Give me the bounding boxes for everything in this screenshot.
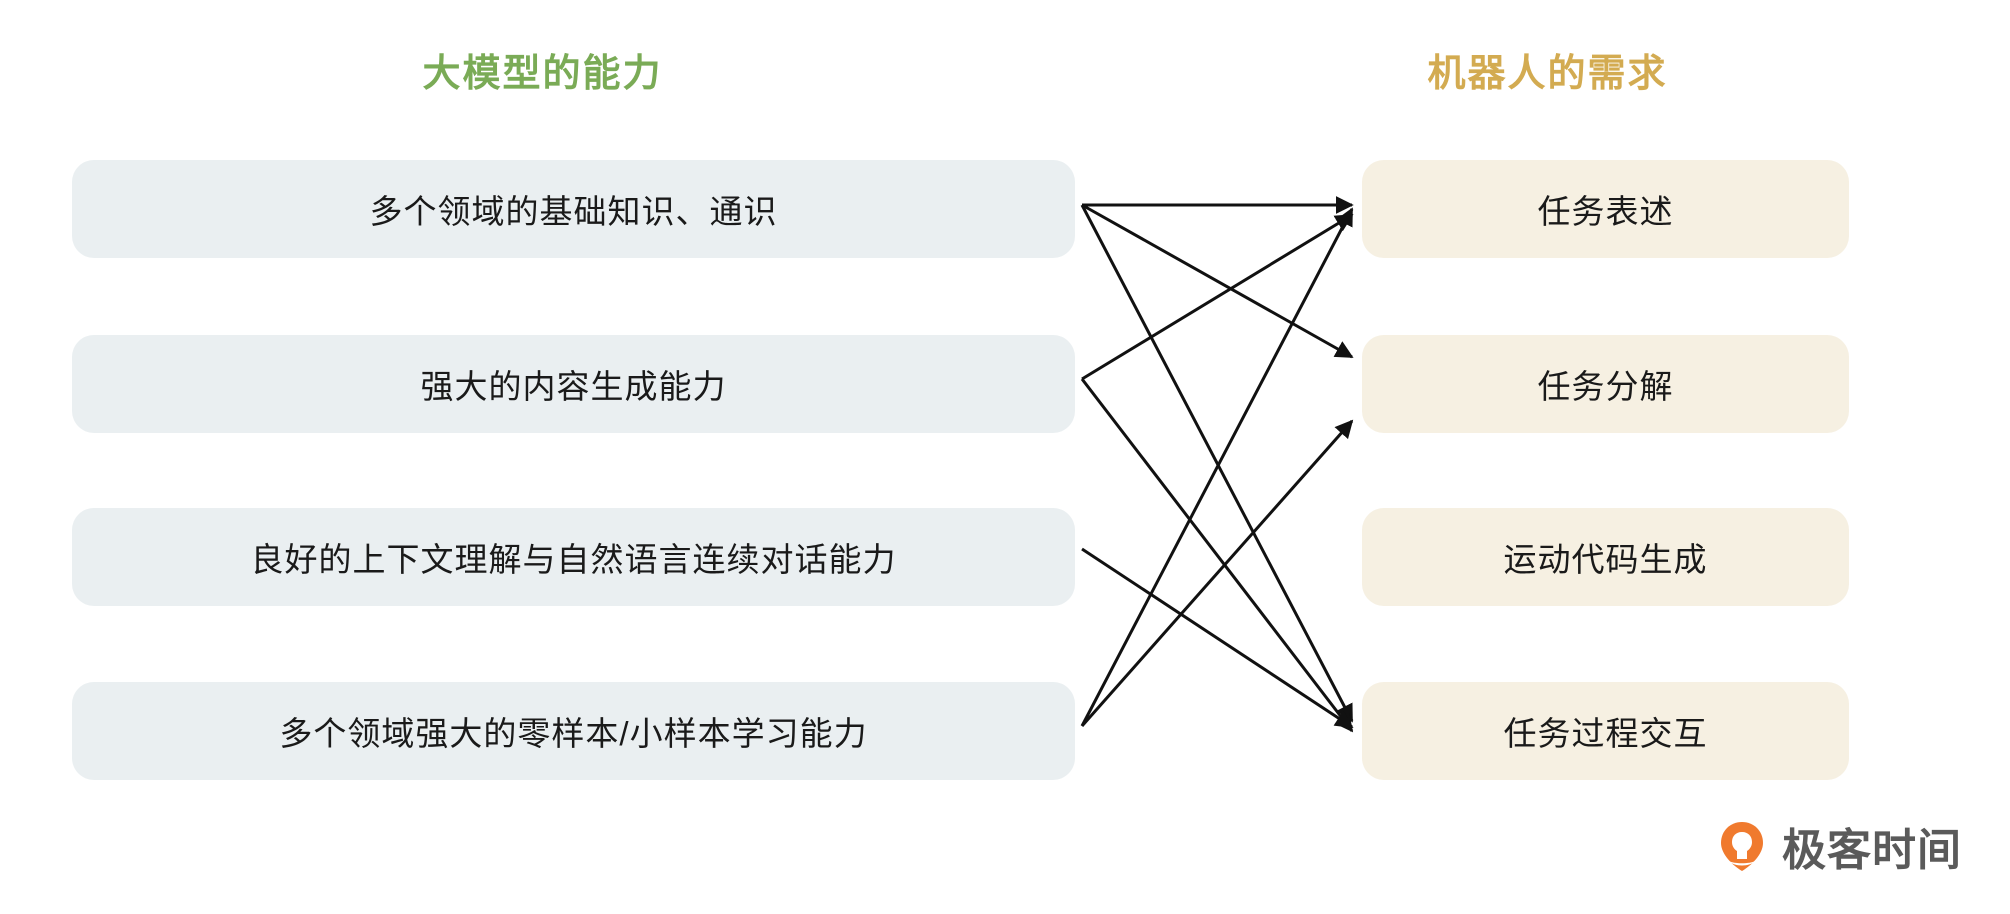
connection-L1-R2: [1082, 205, 1352, 357]
capability-box-2[interactable]: 强大的内容生成能力: [72, 335, 1075, 433]
left-column-title: 大模型的能力: [0, 42, 1085, 97]
connection-L4-R1: [1082, 209, 1352, 726]
brand-logo: 极客时间: [1716, 814, 1962, 878]
capability-box-3[interactable]: 良好的上下文理解与自然语言连续对话能力: [72, 508, 1075, 606]
capability-box-4-label: 多个领域强大的零样本/小样本学习能力: [279, 707, 867, 755]
requirement-box-3[interactable]: 运动代码生成: [1362, 508, 1849, 606]
capability-box-4[interactable]: 多个领域强大的零样本/小样本学习能力: [72, 682, 1075, 780]
requirement-box-1[interactable]: 任务表述: [1362, 160, 1849, 258]
capability-box-1-label: 多个领域的基础知识、通识: [370, 185, 778, 233]
capability-box-1[interactable]: 多个领域的基础知识、通识: [72, 160, 1075, 258]
geektime-pin-icon: [1716, 820, 1768, 872]
requirement-box-2-label: 任务分解: [1538, 360, 1674, 408]
diagram-canvas: 大模型的能力 机器人的需求 多个领域的基础知识、通识 强大的内容生成能力 良好的…: [0, 0, 2010, 914]
capability-box-3-label: 良好的上下文理解与自然语言连续对话能力: [251, 533, 897, 581]
connection-L2-R1: [1082, 215, 1352, 379]
requirement-box-2[interactable]: 任务分解: [1362, 335, 1849, 433]
logo-text: 极客时间: [1782, 814, 1962, 878]
capability-box-2-label: 强大的内容生成能力: [421, 360, 727, 408]
requirement-box-3-label: 运动代码生成: [1504, 533, 1708, 581]
connection-L1-R4: [1082, 205, 1352, 721]
connection-L3-R4: [1082, 549, 1352, 727]
connection-L4-R3: [1082, 421, 1352, 726]
right-column-title: 机器人的需求: [1085, 42, 2010, 97]
connection-L2-R4: [1082, 379, 1352, 731]
requirement-box-4[interactable]: 任务过程交互: [1362, 682, 1849, 780]
requirement-box-1-label: 任务表述: [1538, 185, 1674, 233]
requirement-box-4-label: 任务过程交互: [1504, 707, 1708, 755]
